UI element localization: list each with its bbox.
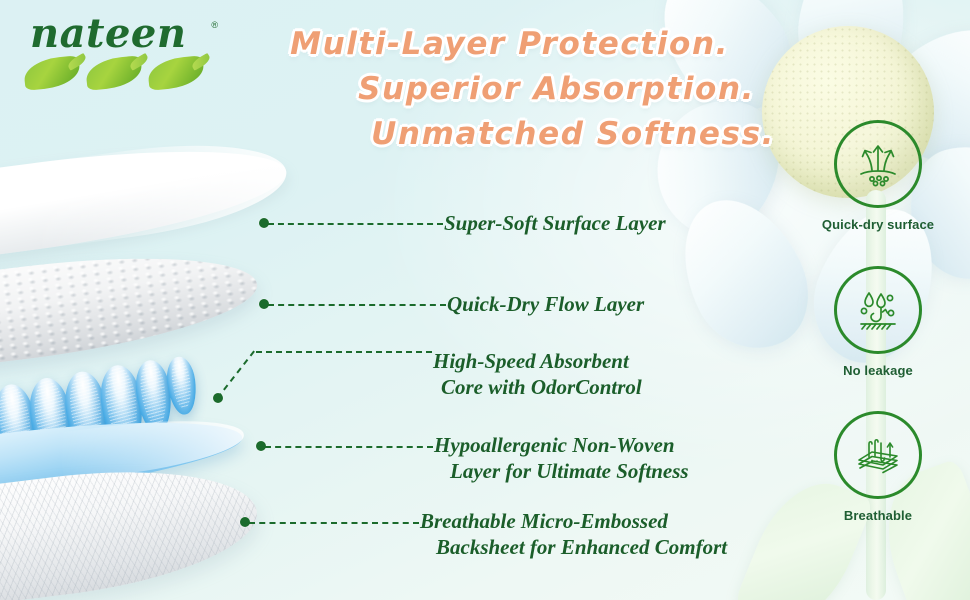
feature-label: Breathable	[803, 508, 953, 523]
feature-icon-ring	[834, 411, 922, 499]
callout-label: Quick-Dry Flow Layer	[447, 291, 644, 317]
brand-name: nateen	[30, 10, 186, 57]
callout-leader-line-diagonal	[216, 350, 255, 399]
product-layer-illustration	[0, 175, 410, 600]
callout-leader-line	[256, 351, 432, 353]
callout-leader-line	[265, 446, 433, 448]
daisy-petal	[790, 0, 914, 99]
callout-label-line-1: Hypoallergenic Non-Woven	[434, 433, 675, 457]
logo-leaves	[24, 56, 210, 90]
callout-label-line-2: Layer for Ultimate Softness	[434, 458, 689, 484]
product-layer-backsheet	[0, 453, 264, 600]
callout-label: Hypoallergenic Non-Woven Layer for Ultim…	[434, 432, 689, 484]
upward-arrows-over-surface-icon	[851, 137, 905, 191]
callout-label-line-1: Super-Soft Surface Layer	[444, 211, 666, 235]
product-layer-nonwoven	[0, 404, 246, 516]
feature-no-leakage: No leakage	[803, 266, 953, 378]
callout-leader-line	[268, 304, 446, 306]
callout-label-line-2: Backsheet for Enhanced Comfort	[420, 534, 727, 560]
leaf-icon	[23, 55, 82, 91]
product-layer-absorbent-core	[0, 347, 256, 511]
callout-label-line-1: Quick-Dry Flow Layer	[447, 292, 644, 316]
callout-leader-line	[268, 223, 443, 225]
product-layer-emboss	[0, 239, 263, 379]
leaf-icon	[147, 55, 206, 91]
callout-label-line-1: High-Speed Absorbent	[433, 349, 629, 373]
callout-label-line-1: Breathable Micro-Embossed	[420, 509, 668, 533]
feature-icon-ring	[834, 266, 922, 354]
headline-line-3: Unmatched Softness.	[230, 112, 775, 157]
callout-label: High-Speed Absorbent Core with OdorContr…	[433, 348, 642, 400]
layered-sheet-airflow-icon	[850, 427, 906, 483]
callout-label: Super-Soft Surface Layer	[444, 210, 666, 236]
feature-label: Quick-dry surface	[803, 217, 953, 232]
callout-label: Breathable Micro-Embossed Backsheet for …	[420, 508, 727, 560]
page-title: Multi-Layer Protection. Superior Absorpt…	[230, 22, 775, 157]
feature-icon-ring	[834, 120, 922, 208]
feature-breathable: Breathable	[803, 411, 953, 523]
droplets-barrier-icon	[851, 283, 905, 337]
infographic-canvas: nateen ® Multi-Layer Protection. Superio…	[0, 0, 970, 600]
feature-label: No leakage	[803, 363, 953, 378]
registered-trademark-icon: ®	[211, 20, 218, 30]
brand-logo: nateen ®	[24, 14, 214, 90]
callout-leader-line	[249, 522, 419, 524]
leaf-icon	[85, 55, 144, 91]
callout-label-line-2: Core with OdorControl	[433, 374, 642, 400]
feature-quick-dry-surface: Quick-dry surface	[803, 120, 953, 232]
headline-line-2: Superior Absorption.	[230, 67, 775, 112]
headline-line-1: Multi-Layer Protection.	[230, 22, 775, 67]
flower-stem	[866, 190, 886, 600]
